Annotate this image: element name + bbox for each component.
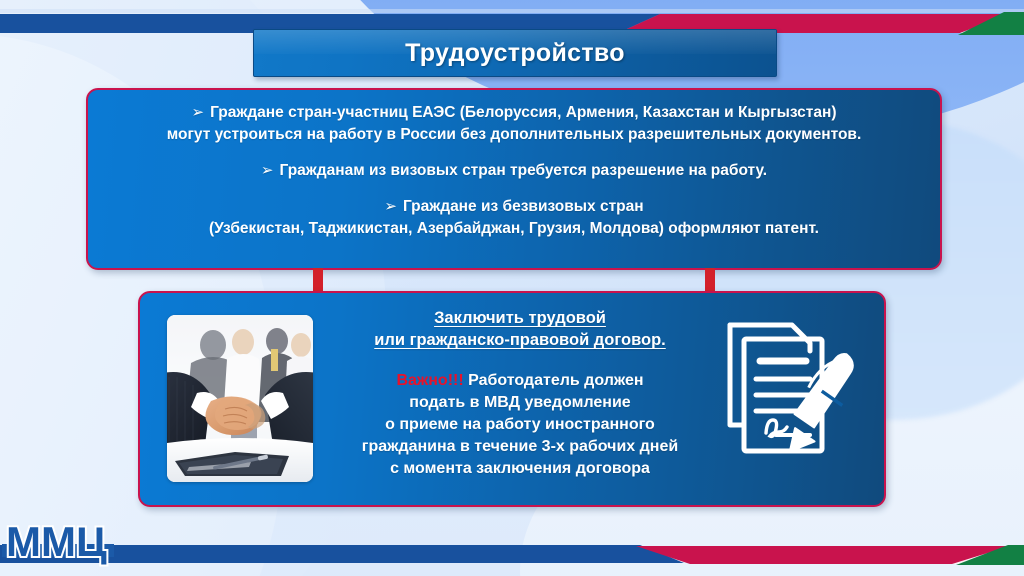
important-line-1: Работодатель должен [464,372,644,389]
slide-title-bar: Трудоустройство [253,29,777,77]
important-keyword: Важно!!! [396,372,463,389]
arrow-bullet-icon: ➢ [261,162,274,179]
arrow-bullet-icon: ➢ [384,198,397,215]
contract-signature-icon [722,313,862,473]
contract-text-block: Заключить трудовой или гражданско-правов… [326,307,714,480]
handshake-photo [167,315,313,482]
eligibility-paragraph-2: ➢Гражданам из визовых стран требуется ра… [110,160,918,182]
bottom-color-band [0,541,1024,567]
paragraph-3-line-1: Граждане из безвизовых стран [403,198,644,215]
contract-heading-line-1: Заключить трудовой [434,309,606,327]
contract-heading-line-2: или гражданско-правовой договор. [374,331,666,349]
band-segment-crimson [636,546,1010,564]
important-notice: Важно!!! Работодатель должен подать в МВ… [326,370,714,480]
page-title: Трудоустройство [405,39,625,68]
paragraph-2-line-1: Гражданам из визовых стран требуется раз… [280,162,768,179]
important-line-2: подать в МВД уведомление [409,394,630,411]
slide-root: Трудоустройство ➢Граждане стран-участниц… [0,0,1024,576]
arrow-bullet-icon: ➢ [191,104,204,121]
paragraph-3-line-2: (Узбекистан, Таджикистан, Азербайджан, Г… [209,220,819,237]
important-line-3: о приеме на работу иностранного [385,416,655,433]
contract-heading: Заключить трудовой или гражданско-правов… [326,307,714,352]
organization-logo: ММЦ [2,514,114,572]
contract-panel: Заключить трудовой или гражданско-правов… [138,291,886,507]
logo-text: ММЦ [6,518,107,565]
eligibility-paragraph-3: ➢Граждане из безвизовых стран (Узбекиста… [110,196,918,240]
eligibility-text-block: ➢Граждане стран-участниц ЕАЭС (Белорусси… [110,102,918,240]
paragraph-1-line-2: могут устроиться на работу в России без … [167,126,862,143]
important-line-4: гражданина в течение 3-х рабочих дней [362,438,678,455]
important-line-5: с момента заключения договора [390,460,650,477]
eligibility-paragraph-1: ➢Граждане стран-участниц ЕАЭС (Белорусси… [110,102,918,146]
eligibility-panel: ➢Граждане стран-участниц ЕАЭС (Белорусси… [86,88,942,270]
paragraph-1-line-1: Граждане стран-участниц ЕАЭС (Белоруссия… [210,104,836,121]
